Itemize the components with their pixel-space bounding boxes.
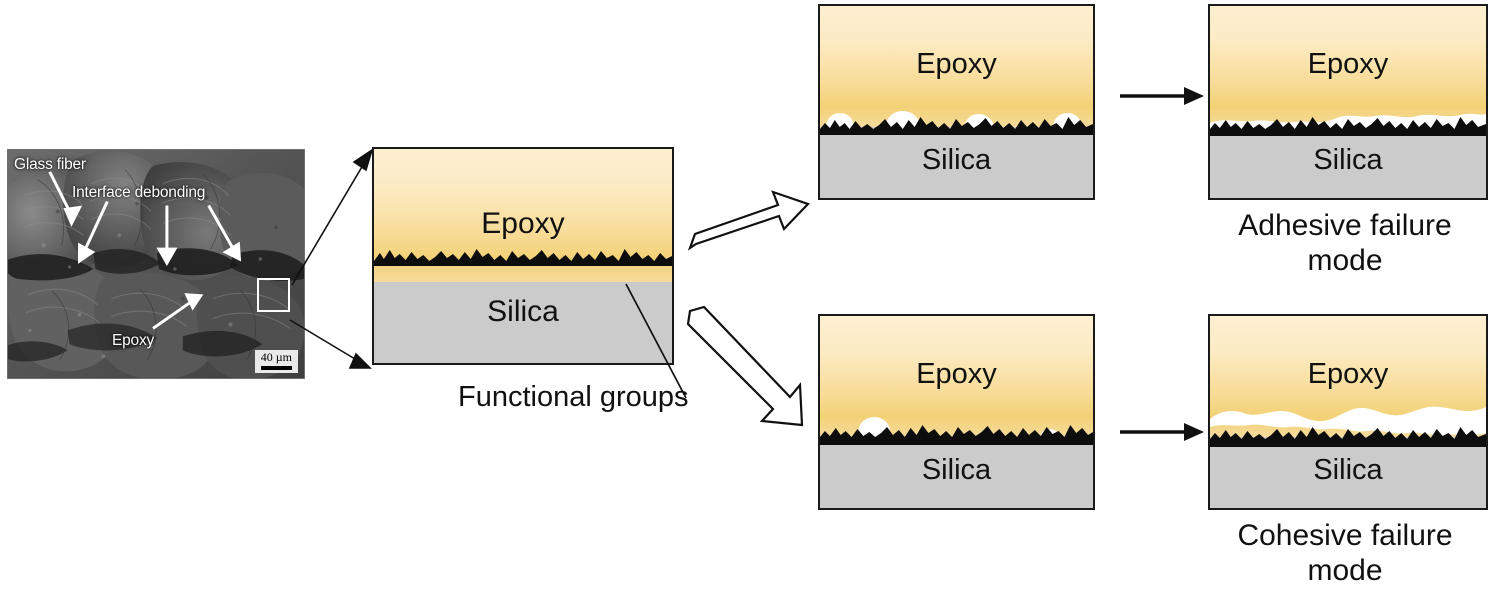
cohesive-stage-2-panel: Epoxy Silica [1208,314,1488,510]
sem-annotation-glass-fiber: Glass fiber [14,156,86,174]
adhesive-stage-1-silica-label: Silica [820,144,1093,177]
cohesive-crack-band [1210,399,1486,457]
functional-group-layer-with-voids [820,105,1093,141]
adhesive-caption-line-2: mode [1190,243,1496,278]
adhesive-progress-arrow [1118,76,1206,116]
cohesive-stage-1-epoxy-label: Epoxy [820,358,1093,391]
adhesive-stage-1-epoxy-label: Epoxy [820,48,1093,81]
interface-schematic: Epoxy Silica [372,147,674,365]
sem-micrograph: Glass fiber Interface debonding Epoxy 40… [7,149,305,379]
scale-bar-line [261,366,292,370]
adhesive-stage-2-epoxy-label: Epoxy [1210,48,1486,81]
functional-group-layer [374,239,672,273]
cohesive-caption-line-2: mode [1190,553,1496,588]
adhesive-stage-1-panel: Epoxy Silica [818,4,1095,200]
cohesive-stage-2-silica-label: Silica [1210,454,1486,487]
cohesive-progress-arrow [1118,412,1206,452]
sem-annotation-epoxy: Epoxy [112,332,154,350]
branch-arrow-adhesive [686,182,814,252]
scale-bar: 40 µm [255,350,298,373]
adhesive-stage-2-silica-label: Silica [1210,144,1486,177]
adhesive-failure-caption: Adhesive failure mode [1190,208,1496,278]
adhesive-caption-line-1: Adhesive failure [1190,208,1496,243]
central-silica-label: Silica [374,295,672,329]
central-epoxy-label: Epoxy [374,207,672,241]
cohesive-void-layer [820,409,1093,453]
adhesive-crack-layer [1210,103,1486,143]
scale-bar-label: 40 µm [261,351,292,364]
cohesive-caption-line-1: Cohesive failure [1190,518,1496,553]
region-of-interest-box [257,278,290,312]
cohesive-stage-2-epoxy-label: Epoxy [1210,358,1486,391]
adhesive-stage-2-panel: Epoxy Silica [1208,4,1488,200]
cohesive-failure-caption: Cohesive failure mode [1190,518,1496,588]
figure-canvas: Glass fiber Interface debonding Epoxy 40… [0,0,1496,595]
branch-arrow-cohesive [686,305,814,433]
sem-annotation-interface-debonding: Interface debonding [72,184,205,202]
cohesive-stage-1-silica-label: Silica [820,454,1093,487]
functional-groups-label: Functional groups [458,381,689,414]
cohesive-stage-1-panel: Epoxy Silica [818,314,1095,510]
